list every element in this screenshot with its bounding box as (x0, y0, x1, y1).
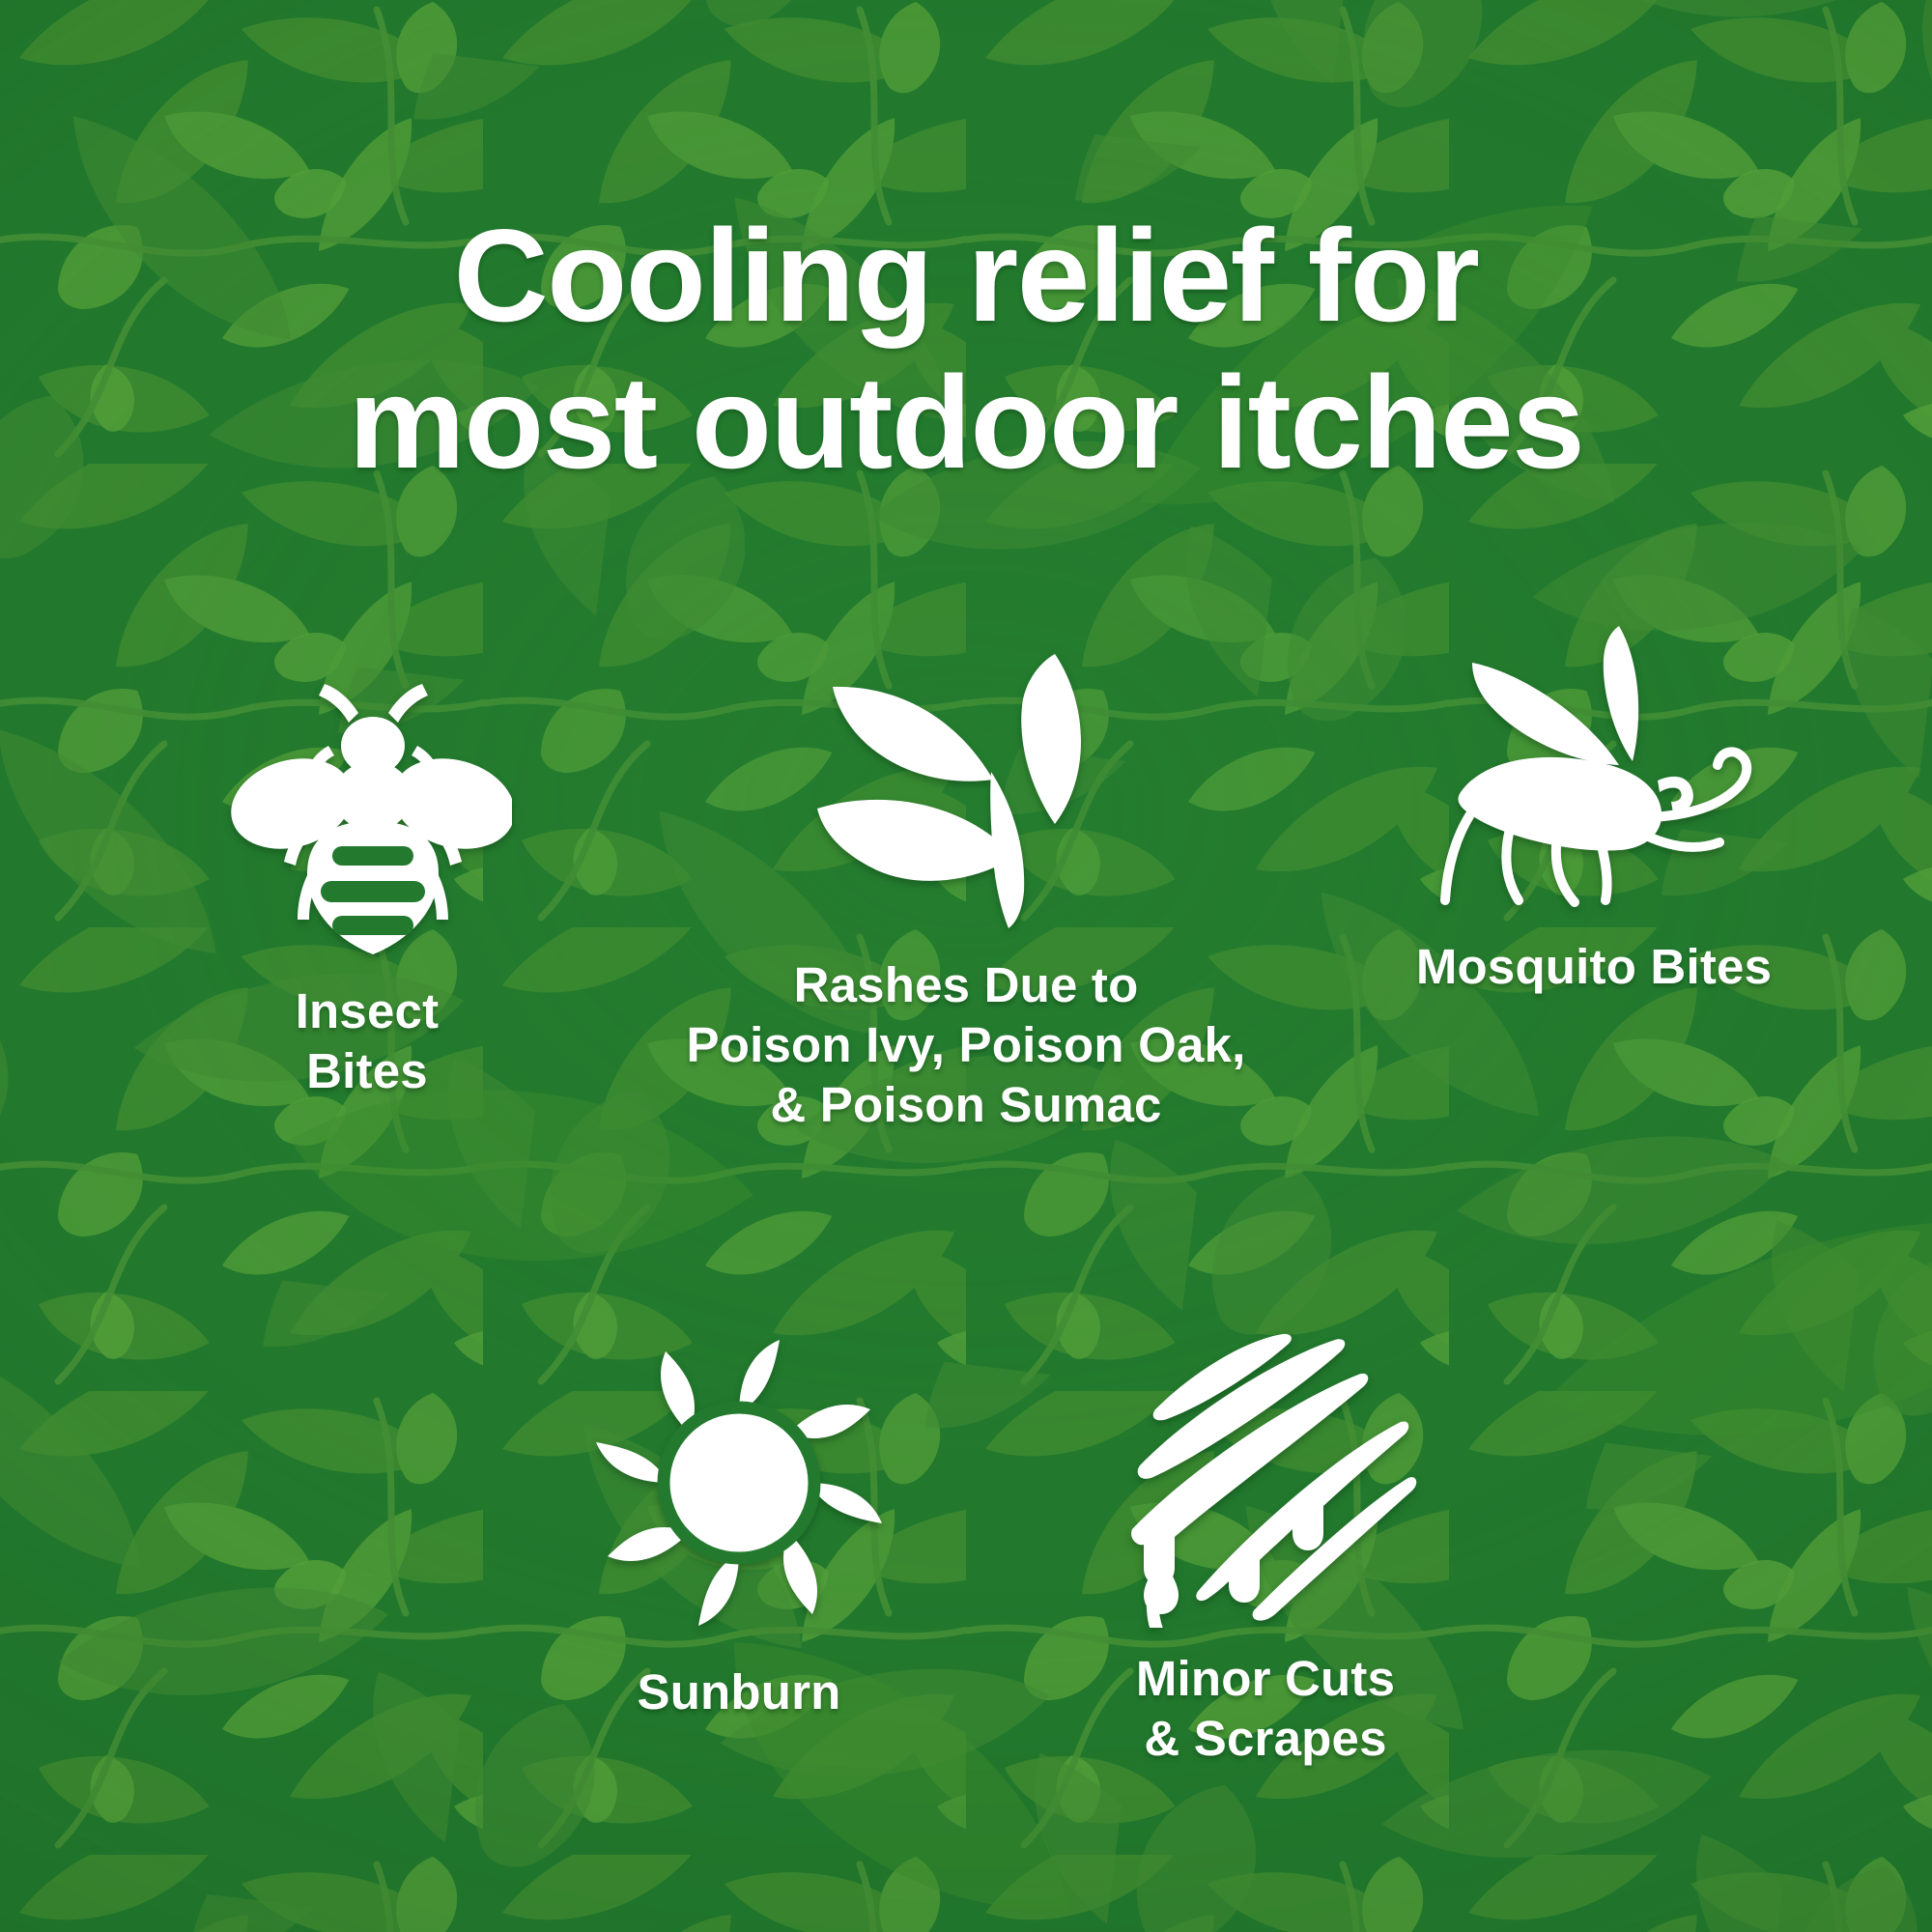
bee-icon (222, 667, 512, 956)
mosquito-icon (1430, 618, 1758, 908)
headline-line-2: most outdoor itches (106, 349, 1826, 496)
benefit-caption-minor-cuts: Minor Cuts & Scrapes (831, 1649, 1700, 1769)
benefit-tile-insect-bites: Insect Bites (58, 667, 676, 1101)
benefit-caption-mosquito-bites: Mosquito Bites (1275, 937, 1913, 997)
poison-ivy-leaf-icon (811, 642, 1121, 932)
page-title: Cooling relief for most outdoor itches (0, 202, 1932, 497)
benefit-tile-minor-cuts: Minor Cuts & Scrapes (831, 1309, 1700, 1769)
benefit-tile-mosquito-bites: Mosquito Bites (1275, 618, 1913, 997)
scratches-drip-icon (1111, 1309, 1420, 1628)
product-benefits-panel: Cooling relief for most outdoor itches (0, 0, 1932, 1932)
headline-line-1: Cooling relief for (454, 202, 1479, 349)
benefit-caption-insect-bites: Insect Bites (58, 981, 676, 1101)
benefit-caption-rashes: Rashes Due to Poison Ivy, Poison Oak, & … (599, 955, 1333, 1136)
benefit-tile-rashes: Rashes Due to Poison Ivy, Poison Oak, & … (599, 642, 1333, 1136)
